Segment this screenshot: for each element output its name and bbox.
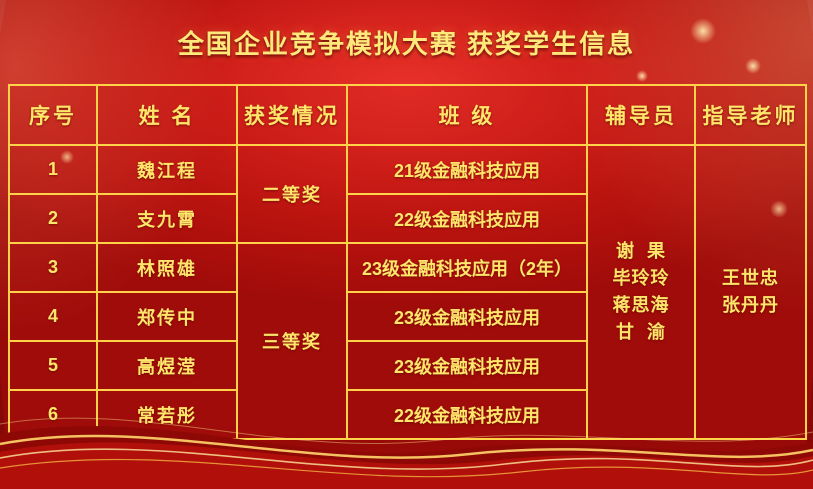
- cell-teacher: 王世忠 张丹丹: [695, 145, 806, 439]
- cell-class: 22级金融科技应用: [347, 390, 587, 439]
- teacher-name: 王世忠: [697, 265, 804, 292]
- teacher-name: 张丹丹: [697, 292, 804, 319]
- header-prize: 获奖情况: [237, 85, 347, 145]
- cell-index: 3: [9, 243, 97, 292]
- cell-name: 郑传中: [97, 292, 237, 341]
- cell-class: 22级金融科技应用: [347, 194, 587, 243]
- cell-name: 高煜滢: [97, 341, 237, 390]
- slide-title: 全国企业竞争模拟大赛 获奖学生信息: [178, 24, 635, 61]
- cell-adviser: 谢 果 毕玲玲 蒋思海 甘 渝: [587, 145, 695, 439]
- header-name: 姓 名: [97, 85, 237, 145]
- cell-index: 2: [9, 194, 97, 243]
- cell-class: 23级金融科技应用: [347, 292, 587, 341]
- cell-prize-second: 二等奖: [237, 145, 347, 243]
- cell-name: 常若彤: [97, 390, 237, 439]
- header-adviser: 辅导员: [587, 85, 695, 145]
- cell-index: 5: [9, 341, 97, 390]
- header-teacher: 指导老师: [695, 85, 806, 145]
- table-header-row: 序号 姓 名 获奖情况 班 级 辅导员 指导老师: [9, 85, 806, 145]
- sparkle-icon: [636, 70, 648, 82]
- cell-name: 支九霄: [97, 194, 237, 243]
- adviser-name: 谢 果: [589, 238, 693, 265]
- header-class: 班 级: [347, 85, 587, 145]
- header-index: 序号: [9, 85, 97, 145]
- award-table: 序号 姓 名 获奖情况 班 级 辅导员 指导老师 1 魏江程 二等奖 21级金融…: [8, 84, 807, 440]
- cell-class: 23级金融科技应用（2年）: [347, 243, 587, 292]
- cell-class: 23级金融科技应用: [347, 341, 587, 390]
- slide-title-container: 全国企业竞争模拟大赛 获奖学生信息: [0, 24, 813, 61]
- cell-class: 21级金融科技应用: [347, 145, 587, 194]
- cell-index: 4: [9, 292, 97, 341]
- adviser-name: 蒋思海: [589, 292, 693, 319]
- cell-name: 魏江程: [97, 145, 237, 194]
- slide-canvas: 全国企业竞争模拟大赛 获奖学生信息 序号 姓 名 获奖情况 班 级 辅导员 指导…: [0, 0, 813, 489]
- cell-name: 林照雄: [97, 243, 237, 292]
- adviser-name: 甘 渝: [589, 319, 693, 346]
- cell-index: 6: [9, 390, 97, 439]
- table-row: 1 魏江程 二等奖 21级金融科技应用 谢 果 毕玲玲 蒋思海 甘 渝 王世忠 …: [9, 145, 806, 194]
- adviser-name: 毕玲玲: [589, 265, 693, 292]
- cell-index: 1: [9, 145, 97, 194]
- cell-prize-third: 三等奖: [237, 243, 347, 439]
